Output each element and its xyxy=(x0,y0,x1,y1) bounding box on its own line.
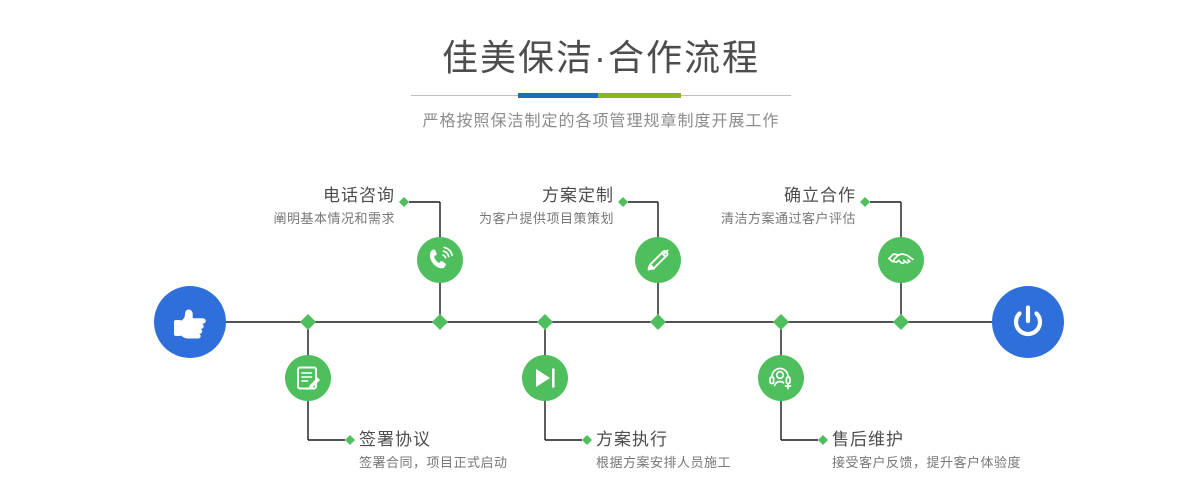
step-icon-plan-execute[interactable] xyxy=(522,355,568,401)
timeline-diamond-5 xyxy=(773,314,789,330)
step-icon-after-sales[interactable] xyxy=(758,355,804,401)
document-sign-icon xyxy=(294,364,322,392)
timeline-diamond-4 xyxy=(650,314,666,330)
customer-support-icon xyxy=(767,364,795,392)
step-desc: 清洁方案通过客户评估 xyxy=(610,209,856,229)
step-label-plan-execute: 方案执行 根据方案安排人员施工 xyxy=(596,429,731,473)
step-icon-establish-cooperation[interactable] xyxy=(878,237,924,283)
step-desc: 为客户提供项目策策划 xyxy=(370,209,614,229)
handshake-icon xyxy=(887,246,915,274)
timeline-diamond-1 xyxy=(300,314,316,330)
step-label-phone-consult: 电话咨询 阐明基本情况和需求 xyxy=(150,185,395,229)
step-desc: 根据方案安排人员施工 xyxy=(596,453,731,473)
pointing-hand-icon xyxy=(168,300,212,344)
timeline-diamond-2 xyxy=(432,314,448,330)
step-title: 方案定制 xyxy=(370,185,614,207)
label-diamond-below-1 xyxy=(345,435,355,445)
process-flow-diagram: 电话咨询 阐明基本情况和需求 方案定制 为客户提供项目策策划 确立合作 清洁方案… xyxy=(0,0,1202,502)
play-execute-icon xyxy=(531,364,559,392)
flow-connectors xyxy=(0,0,1202,502)
pencil-edit-icon xyxy=(644,246,672,274)
step-icon-sign-agreement[interactable] xyxy=(285,355,331,401)
flow-start-badge[interactable] xyxy=(154,286,226,358)
step-icon-plan-customize[interactable] xyxy=(635,237,681,283)
step-desc: 接受客户反馈，提升客户体验度 xyxy=(832,453,1021,473)
power-icon xyxy=(1006,300,1050,344)
step-title: 签署协议 xyxy=(359,429,508,451)
step-title: 售后维护 xyxy=(832,429,1021,451)
step-desc: 阐明基本情况和需求 xyxy=(150,209,395,229)
timeline-diamond-6 xyxy=(893,314,909,330)
timeline-diamond-3 xyxy=(537,314,553,330)
phone-call-icon xyxy=(426,246,454,274)
label-diamond-below-3 xyxy=(818,435,828,445)
step-title: 方案执行 xyxy=(596,429,731,451)
step-label-sign-agreement: 签署协议 签署合同，项目正式启动 xyxy=(359,429,508,473)
step-title: 确立合作 xyxy=(610,185,856,207)
step-label-plan-customize: 方案定制 为客户提供项目策策划 xyxy=(370,185,614,229)
step-icon-phone-consult[interactable] xyxy=(417,237,463,283)
step-label-establish-cooperation: 确立合作 清洁方案通过客户评估 xyxy=(610,185,856,229)
label-diamond-above-3 xyxy=(860,197,870,207)
step-desc: 签署合同，项目正式启动 xyxy=(359,453,508,473)
label-diamond-below-2 xyxy=(582,435,592,445)
step-title: 电话咨询 xyxy=(150,185,395,207)
step-label-after-sales: 售后维护 接受客户反馈，提升客户体验度 xyxy=(832,429,1021,473)
flow-end-badge[interactable] xyxy=(992,286,1064,358)
